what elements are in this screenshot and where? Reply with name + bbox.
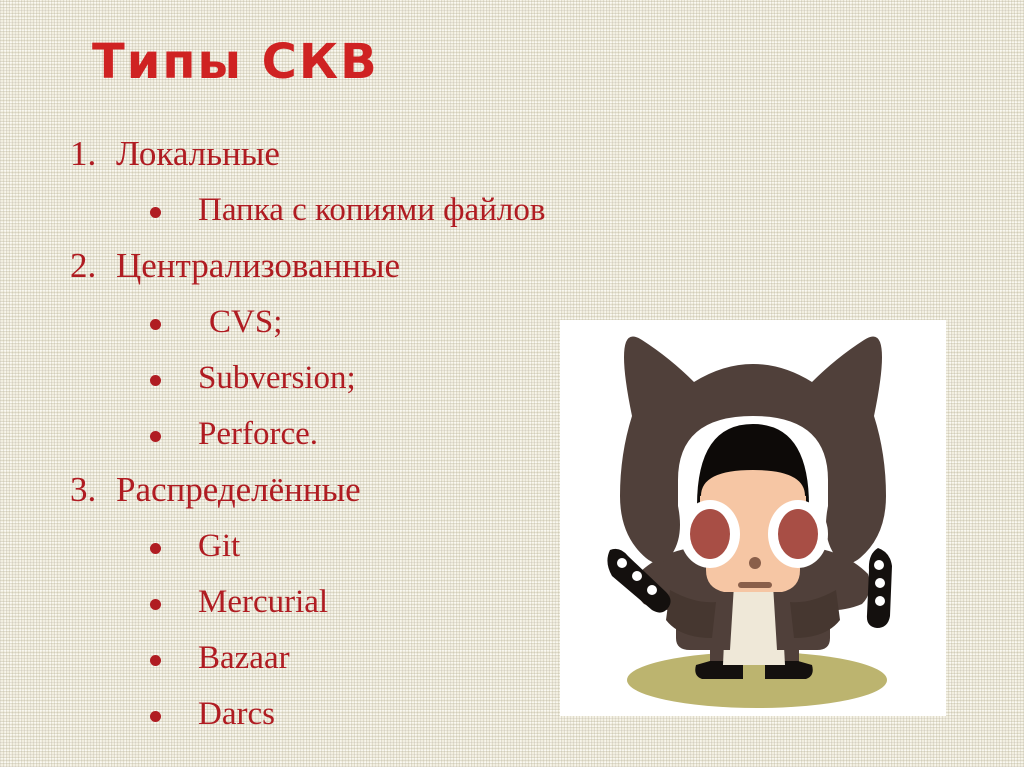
list-label: Распределённые — [116, 462, 361, 518]
types-list: 1. Локальные Папка с копиями файлов 2. Ц… — [70, 126, 570, 742]
slide-canvas: Типы СКВ 1. Локальные Папка с копиями фа… — [0, 0, 1024, 767]
sub-item-cvs: CVS; — [70, 294, 570, 350]
tentacle-right — [867, 548, 892, 628]
octocat-mascot-icon — [560, 320, 946, 716]
list-label: Централизованные — [116, 238, 400, 294]
sub-item-label: Папка с копиями файлов — [198, 182, 545, 238]
eye-left — [690, 509, 730, 559]
list-number: 1. — [70, 126, 116, 182]
sub-item-perforce: Perforce. — [70, 406, 570, 462]
sub-item-bazaar: Bazaar — [70, 630, 570, 686]
sub-item-label: Perforce. — [198, 406, 318, 462]
octocat-image-card — [560, 320, 946, 716]
sub-item-label: Git — [198, 518, 240, 574]
sub-item-mercurial: Mercurial — [70, 574, 570, 630]
sub-item-git: Git — [70, 518, 570, 574]
list-label: Локальные — [116, 126, 280, 182]
list-item-centralized: 2. Централизованные — [70, 238, 570, 294]
list-number: 3. — [70, 462, 116, 518]
sub-item-label: Bazaar — [198, 630, 290, 686]
sub-item-subversion: Subversion; — [70, 350, 570, 406]
list-item-distributed: 3. Распределённые — [70, 462, 570, 518]
sub-item-label: Subversion; — [198, 350, 356, 406]
sub-item-label: Mercurial — [198, 574, 328, 630]
list-number: 2. — [70, 238, 116, 294]
sub-item-folder-copies: Папка с копиями файлов — [70, 182, 570, 238]
sub-item-darcs: Darcs — [70, 686, 570, 742]
mouth — [738, 582, 772, 588]
eye-right — [778, 509, 818, 559]
sub-item-label: Darcs — [198, 686, 275, 742]
list-item-local: 1. Локальные — [70, 126, 570, 182]
page-title: Типы СКВ — [92, 38, 379, 86]
sub-item-label: CVS; — [198, 294, 282, 350]
nose — [749, 557, 761, 569]
